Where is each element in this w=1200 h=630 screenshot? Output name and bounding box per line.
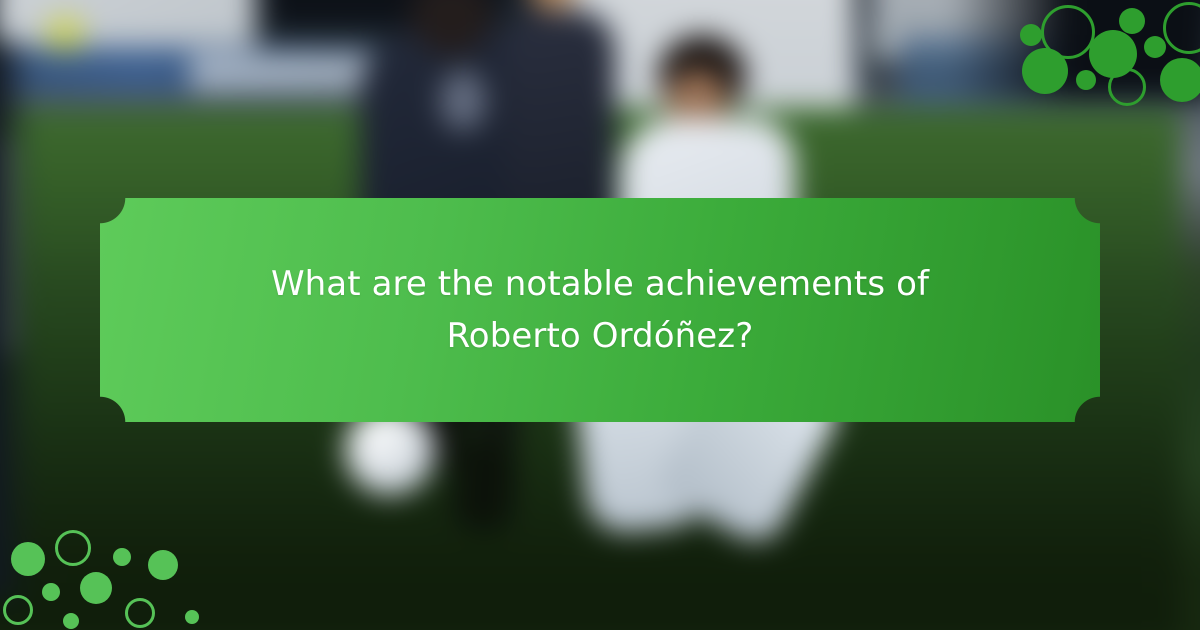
- dot-ring-small: [125, 598, 155, 628]
- dot-solid-tiny2: [1076, 70, 1096, 90]
- dot-ring-medium: [3, 595, 33, 625]
- question-card: What are the notable achievements of Rob…: [100, 198, 1100, 422]
- dot-solid-small: [42, 583, 60, 601]
- dot-solid-large: [1022, 48, 1068, 94]
- dot-solid-dot2: [185, 610, 199, 624]
- dot-solid-large2: [1160, 58, 1200, 102]
- background-yellow-highlight: [45, 15, 85, 51]
- dot-solid-medium: [148, 550, 178, 580]
- dot-solid-large: [11, 542, 45, 576]
- dot-solid-small: [1020, 24, 1042, 46]
- og-image-canvas: What are the notable achievements of Rob…: [0, 0, 1200, 630]
- dot-solid-big: [80, 572, 112, 604]
- dot-solid-tiny: [113, 548, 131, 566]
- question-title: What are the notable achievements of Rob…: [220, 258, 980, 362]
- background-left-dark-figure: [0, 40, 30, 600]
- dot-ring-medium: [1108, 68, 1146, 106]
- dot-solid-small2: [1119, 8, 1145, 34]
- dot-solid-dot: [63, 613, 79, 629]
- background-boot-3: [450, 437, 519, 533]
- dot-ring-large: [55, 530, 91, 566]
- background-player-crest: [440, 70, 486, 130]
- dot-solid-tiny: [1144, 36, 1166, 58]
